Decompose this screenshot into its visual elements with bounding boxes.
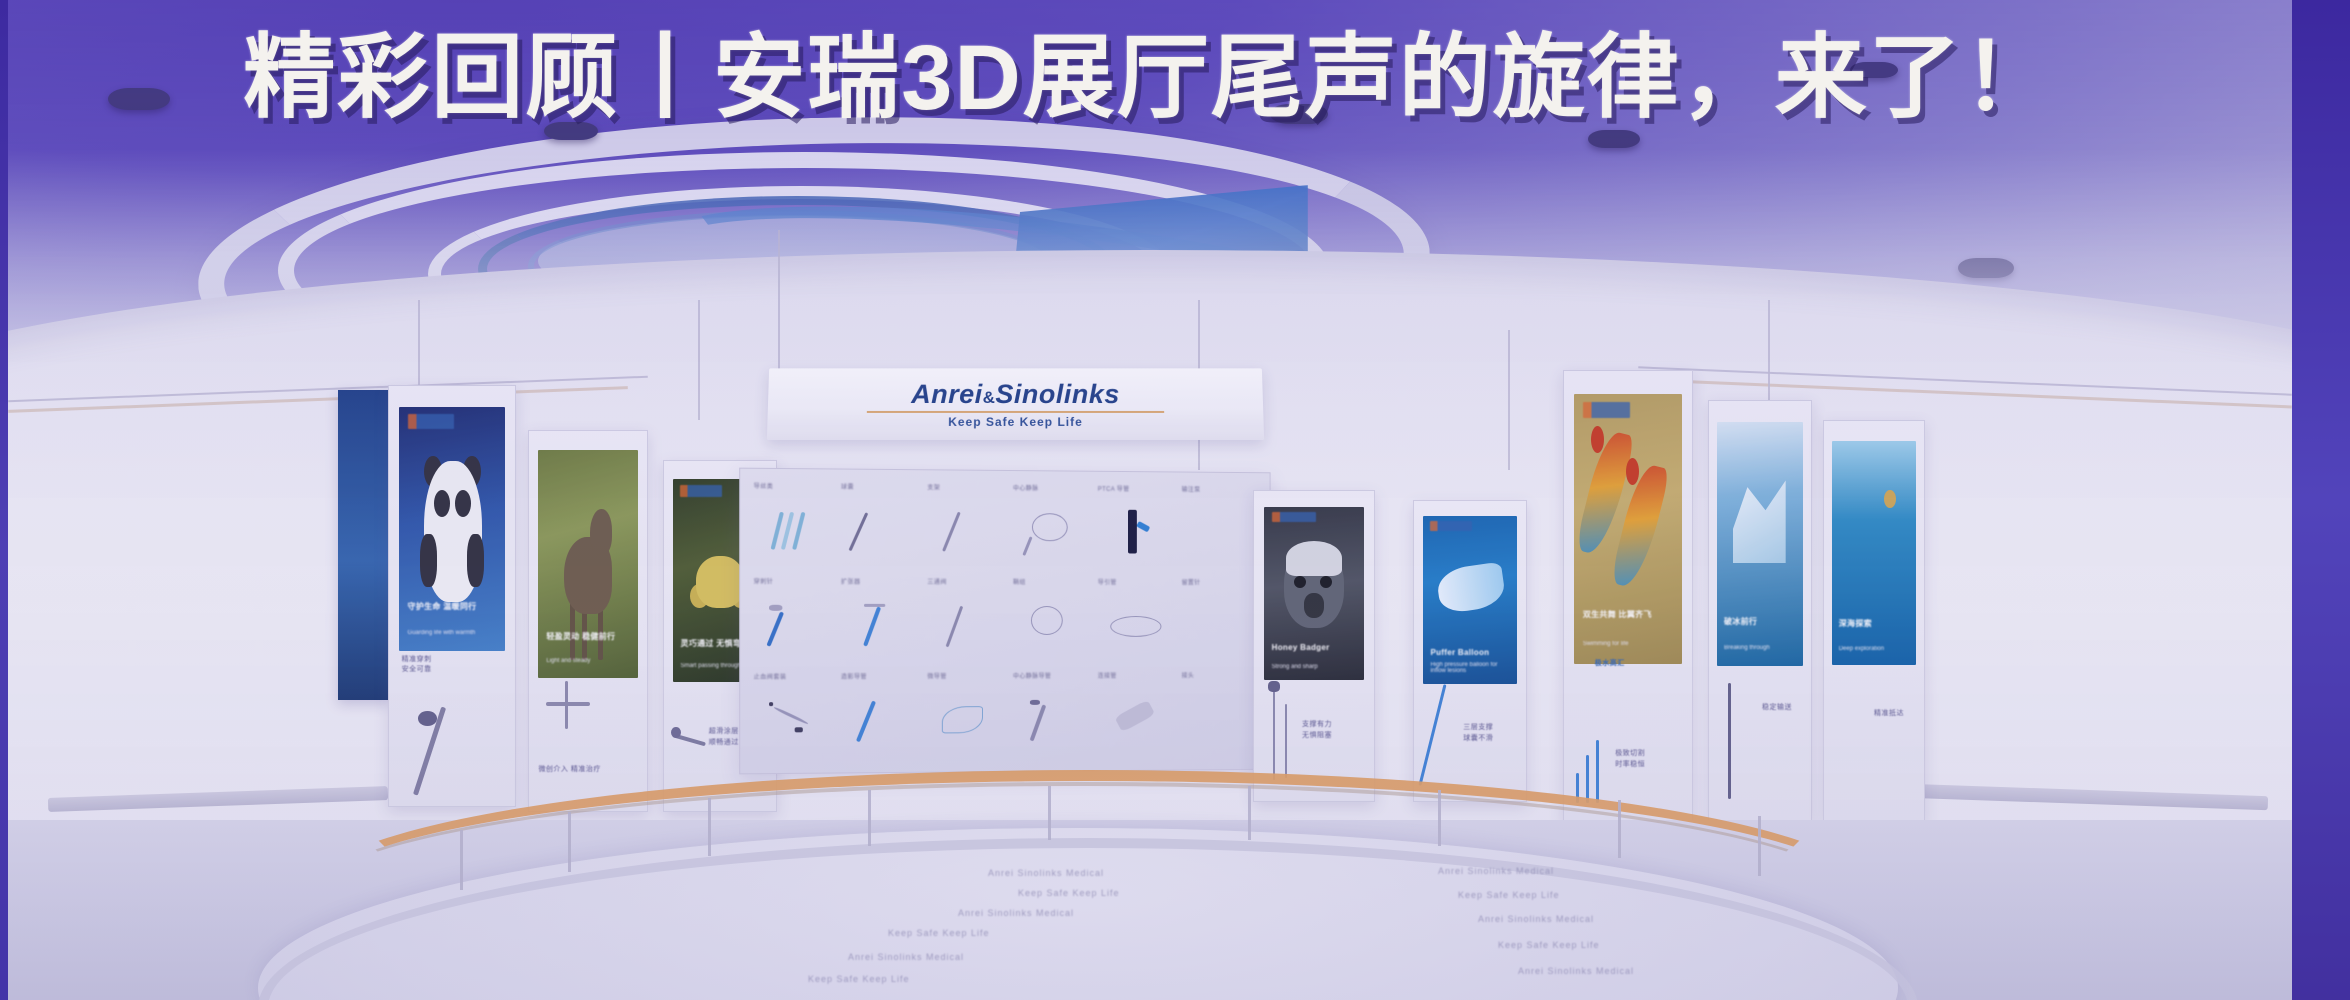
- device-illustration: [671, 706, 709, 776]
- product-cell[interactable]: 支架: [924, 480, 1008, 573]
- brand-banner: Anrei&Sinolinks Keep Safe Keep Life: [767, 368, 1264, 440]
- rail-post: [868, 790, 871, 846]
- poster-subtitle: Guarding life with warmth: [408, 630, 497, 636]
- brand-amp: &: [983, 388, 996, 407]
- panel-caption: 极致切割 时率稳恒: [1615, 749, 1687, 770]
- rail-post: [708, 798, 711, 856]
- page-title: 精彩回顾丨安瑞3D展厅尾声的旋律，来了！: [8, 30, 2292, 127]
- rail-post: [1438, 790, 1441, 846]
- product-cell[interactable]: 鞘组: [1010, 575, 1093, 667]
- panda-eye-icon: [434, 490, 450, 517]
- product-cell[interactable]: 穿刺针: [751, 574, 836, 667]
- product-label: 微导管: [927, 671, 946, 680]
- panel-panda[interactable]: 守护生命 温暖同行 Guarding life with warmth 精准穿刺…: [388, 385, 516, 807]
- poster-title: 双生共舞 比翼齐飞: [1583, 609, 1673, 620]
- product-label: 鞘组: [1013, 577, 1026, 586]
- platform-rail: [308, 770, 1870, 1000]
- product-cell[interactable]: 留置针: [1179, 575, 1260, 666]
- product-label: 中心静脉导管: [1013, 671, 1051, 680]
- product-label: 支架: [927, 482, 940, 491]
- product-cell[interactable]: 三通阀: [924, 575, 1008, 667]
- badger-snout-icon: [1304, 593, 1324, 617]
- product-cell[interactable]: 中心静脉导管: [1010, 669, 1093, 761]
- device-illustration: [1261, 677, 1299, 782]
- rail-post: [568, 812, 571, 872]
- product-cell[interactable]: 输注泵: [1179, 482, 1260, 573]
- left-purple-border: [0, 0, 8, 1000]
- device-icon: [850, 602, 911, 650]
- brand-wordmark: Anrei&Sinolinks: [911, 379, 1120, 410]
- brand-tagline: Keep Safe Keep Life: [948, 415, 1083, 429]
- device-icon: [763, 507, 824, 556]
- poster-ice: 破冰前行 Breaking through: [1717, 422, 1803, 666]
- product-cell[interactable]: PTCA 导管: [1095, 482, 1177, 574]
- brand-logo-icon: [408, 414, 455, 429]
- deer-head-icon: [590, 509, 612, 555]
- device-illustration: [407, 705, 457, 797]
- product-label: 连接管: [1098, 671, 1117, 680]
- product-cell[interactable]: 造影导管: [838, 669, 922, 762]
- panel-caption: 稳定输送: [1762, 703, 1807, 714]
- panel-sea[interactable]: 深海探索 Deep exploration 精准抵达: [1823, 420, 1925, 822]
- product-label: 接头: [1182, 670, 1195, 679]
- product-label: PTCA 导管: [1098, 484, 1130, 493]
- device-icon: [936, 697, 996, 745]
- panel-ice[interactable]: 破冰前行 Breaking through 稳定输送: [1708, 400, 1812, 822]
- product-cell[interactable]: 微导管: [924, 669, 1008, 762]
- device-icon: [1022, 696, 1082, 744]
- panel-caption: 精准穿刺 安全可靠: [402, 655, 490, 676]
- panda-arm-icon: [467, 534, 484, 588]
- rail-post: [1048, 786, 1051, 840]
- poster-title: 守护生命 温暖同行: [408, 601, 497, 612]
- brand-logo-icon: [1430, 521, 1471, 531]
- poster-sea: 深海探索 Deep exploration: [1832, 441, 1916, 665]
- device-icon: [1022, 509, 1082, 557]
- rail-post: [460, 830, 463, 890]
- product-label: 导引管: [1098, 577, 1117, 586]
- device-icon: [763, 602, 824, 651]
- iceberg-icon: [1733, 480, 1786, 563]
- product-label: 输注泵: [1182, 484, 1201, 493]
- product-cell[interactable]: 导引管: [1095, 575, 1177, 667]
- poster-subtitle: Strong and sharp: [1272, 664, 1357, 670]
- product-cell[interactable]: 止血阀套装: [751, 669, 836, 763]
- product-cell[interactable]: 中心静脉: [1010, 481, 1093, 573]
- product-display-board[interactable]: 导丝类 球囊 支架: [739, 468, 1270, 775]
- product-label: 留置针: [1182, 577, 1201, 586]
- device-icon: [936, 508, 996, 556]
- panel-caption: 支撑有力 无惧阻塞: [1302, 720, 1369, 741]
- poster-panda: 守护生命 温暖同行 Guarding life with warmth: [399, 407, 505, 651]
- product-label: 球囊: [841, 482, 854, 491]
- device-icon: [850, 697, 911, 746]
- device-icon: [850, 508, 911, 557]
- poster-badger: Honey Badger Strong and sharp: [1264, 507, 1365, 681]
- bar-chart-illustration: [1574, 731, 1610, 803]
- product-cell[interactable]: 扩张器: [838, 575, 922, 668]
- exhibition-photo: 守护生命 温暖同行 Guarding life with warmth 精准穿刺…: [8, 0, 2292, 1000]
- poster-title: Honey Badger: [1272, 643, 1357, 652]
- brand-logo-icon: [1272, 512, 1316, 522]
- poster-title: 深海探索: [1839, 618, 1910, 629]
- rail-post: [1758, 816, 1761, 876]
- hanging-cable: [698, 300, 700, 420]
- panda-arm-icon: [420, 534, 437, 588]
- ceiling-spotlight-icon: [1588, 130, 1640, 148]
- dolphin-icon: [1435, 562, 1506, 614]
- right-purple-border: [2292, 0, 2350, 1000]
- panel-caption: 精准抵达: [1874, 709, 1920, 720]
- product-label: 中心静脉: [1013, 483, 1039, 492]
- blue-wall-drape: [338, 390, 390, 700]
- product-label: 造影导管: [841, 671, 867, 680]
- product-label: 止血阀套装: [754, 672, 787, 681]
- poster-subtitle: Swimming for life: [1583, 641, 1673, 647]
- panel-dolphin[interactable]: Puffer Balloon High pressure balloon for…: [1413, 500, 1527, 802]
- panda-eye-icon: [455, 490, 471, 517]
- panel-deer[interactable]: 轻盈灵动 稳健前行 Light and steady 微创介入 精准治疗: [528, 430, 648, 812]
- poster-title: 破冰前行: [1724, 616, 1796, 627]
- device-icon: [936, 603, 996, 651]
- poster-subtitle: Deep exploration: [1839, 646, 1910, 652]
- poster-title: 轻盈灵动 稳健前行: [546, 631, 629, 642]
- product-cell[interactable]: 球囊: [838, 480, 922, 573]
- brand-right: Sinolinks: [995, 379, 1120, 409]
- brand-logo-icon: [1583, 402, 1630, 418]
- product-cell[interactable]: 连接管: [1095, 669, 1177, 761]
- poster-dolphin: Puffer Balloon High pressure balloon for…: [1423, 516, 1517, 684]
- poster-image: 守护生命 温暖同行 Guarding life with warmth 精准穿刺…: [0, 0, 2350, 1000]
- brand-divider: [867, 411, 1164, 413]
- poster-subtitle: High pressure balloon for inflow lesions: [1430, 662, 1509, 674]
- poster-birds: 双生共舞 比翼齐飞 Swimming for life: [1574, 394, 1682, 664]
- badger-eye-icon: [1294, 576, 1306, 588]
- sun-icon: [1884, 490, 1896, 508]
- panel-caption: 三层支撑 球囊不滑: [1463, 723, 1521, 744]
- product-cell[interactable]: 导丝类: [751, 479, 836, 573]
- panel-badge: 极水高汇: [1595, 659, 1672, 670]
- panel-birds[interactable]: 双生共舞 比翼齐飞 Swimming for life 极水高汇 极致切割 时率…: [1563, 370, 1693, 822]
- device-icon: [763, 697, 824, 746]
- panel-badger[interactable]: Honey Badger Strong and sharp 支撑有力 无惧阻塞: [1253, 490, 1375, 802]
- product-label: 导丝类: [754, 481, 774, 490]
- product-grid: 导丝类 球囊 支架: [751, 479, 1260, 763]
- device-icon: [1022, 603, 1082, 651]
- hanging-cable: [1508, 330, 1510, 470]
- device-icon: [1106, 603, 1165, 651]
- poster-subtitle: Breaking through: [1724, 645, 1796, 651]
- panel-caption: 微创介入 精准治疗: [538, 765, 637, 776]
- product-label: 扩张器: [841, 577, 861, 586]
- badger-cap-icon: [1286, 541, 1342, 576]
- rail-post: [1248, 786, 1251, 840]
- device-icon: [1106, 696, 1165, 744]
- frog-body-icon: [696, 556, 745, 609]
- brand-left: Anrei: [911, 379, 983, 409]
- product-label: 穿刺针: [754, 576, 774, 585]
- device-illustration: [1418, 681, 1458, 789]
- brand-logo-icon: [680, 485, 721, 497]
- product-label: 三通阀: [927, 577, 946, 586]
- rail-post: [1618, 800, 1621, 858]
- bird-head-icon: [1626, 458, 1639, 485]
- poster-deer: 轻盈灵动 稳健前行 Light and steady: [538, 450, 637, 678]
- product-cell[interactable]: 接头: [1179, 668, 1260, 759]
- bird-head-icon: [1591, 426, 1604, 453]
- device-illustration: [541, 674, 595, 742]
- device-icon: [1106, 509, 1165, 557]
- poster-subtitle: Light and steady: [546, 658, 629, 664]
- poster-title: Puffer Balloon: [1430, 648, 1509, 657]
- device-illustration: [1717, 678, 1748, 804]
- hanging-cable: [778, 230, 780, 370]
